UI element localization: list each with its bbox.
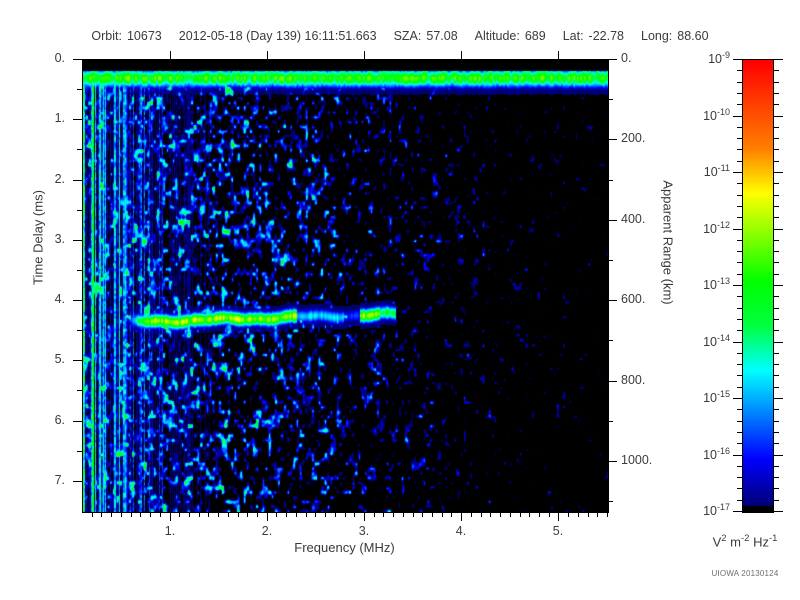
x-major-tick (558, 512, 559, 521)
colorbar-minor-tick (773, 206, 779, 207)
colorbar-minor-tick (773, 70, 779, 71)
header-field-label: Orbit: (91, 29, 122, 43)
y-left-tick-label: 5. (55, 352, 65, 366)
x-minor-tick (549, 512, 550, 517)
y-left-major-tick (73, 240, 82, 241)
header-field-label: Long: (641, 29, 672, 43)
unit-meters: m (730, 534, 741, 549)
colorbar-major-tick (733, 229, 743, 230)
colorbar-tick-label: 10-17 (703, 502, 730, 518)
colorbar-minor-tick (737, 308, 743, 309)
x-minor-tick (286, 512, 287, 517)
x-minor-tick (228, 512, 229, 517)
colorbar-minor-tick (773, 500, 779, 501)
y-left-major-tick (73, 421, 82, 422)
x-minor-tick (539, 512, 540, 517)
colorbar-minor-tick (737, 240, 743, 241)
x-minor-tick (189, 512, 190, 517)
x-minor-tick (451, 512, 452, 517)
y-left-major-tick (73, 180, 82, 181)
colorbar-major-tick (733, 398, 743, 399)
x-minor-tick (403, 512, 404, 517)
x-minor-tick (597, 512, 598, 517)
colorbar-minor-tick (773, 432, 779, 433)
header-field-value: 88.60 (677, 29, 708, 43)
y-right-tick-label: 600. (621, 292, 645, 306)
colorbar-tick-exponent: -11 (718, 163, 730, 173)
colorbar-minor-tick (773, 364, 779, 365)
y-right-tick-label: 800. (621, 373, 645, 387)
x-minor-tick (432, 512, 433, 517)
x-minor-tick (490, 512, 491, 517)
colorbar-minor-tick (773, 93, 779, 94)
colorbar-minor-tick (737, 161, 743, 162)
unit-volts-exponent: 2 (721, 533, 726, 544)
colorbar-minor-tick (737, 70, 743, 71)
colorbar-major-tick (773, 229, 783, 230)
colorbar-minor-tick (737, 82, 743, 83)
colorbar-minor-tick (773, 251, 779, 252)
colorbar-tick-label: 10-12 (703, 220, 730, 236)
x-minor-tick (218, 512, 219, 517)
x-minor-tick (471, 512, 472, 517)
x-tick-label: 1. (140, 524, 200, 538)
colorbar-minor-tick (773, 308, 779, 309)
y-right-tick-label: 400. (621, 212, 645, 226)
x-minor-tick (306, 512, 307, 517)
x-minor-tick (607, 512, 608, 517)
colorbar-tick-exponent: -17 (717, 502, 730, 512)
colorbar-minor-tick (737, 364, 743, 365)
colorbar-minor-tick (773, 319, 779, 320)
x-minor-tick (247, 512, 248, 517)
x-minor-tick (199, 512, 200, 517)
y-left-tick-label: 7. (55, 473, 65, 487)
colorbar-minor-tick (773, 240, 779, 241)
header-field-value: 689 (525, 29, 546, 43)
colorbar-minor-tick (773, 353, 779, 354)
colorbar (742, 59, 774, 513)
colorbar-minor-tick (737, 93, 743, 94)
ionogram-figure: Orbit:106732012-05-18 (Day 139) 16:11:51… (0, 0, 800, 600)
colorbar-minor-tick (737, 466, 743, 467)
y-left-minor-tick (77, 270, 82, 271)
colorbar-minor-tick (773, 330, 779, 331)
header-field-label: SZA: (394, 29, 422, 43)
colorbar-minor-tick (737, 353, 743, 354)
colorbar-minor-tick (773, 183, 779, 184)
y-right-tick-label: 1000. (621, 453, 652, 467)
colorbar-minor-tick (773, 443, 779, 444)
colorbar-minor-tick (773, 296, 779, 297)
y-right-major-tick (608, 59, 617, 60)
y-right-tick-label: 0. (621, 51, 631, 65)
x-minor-tick (588, 512, 589, 517)
colorbar-major-tick (733, 59, 743, 60)
colorbar-minor-tick (737, 500, 743, 501)
colorbar-minor-tick (737, 296, 743, 297)
unit-hertz-exponent: -1 (769, 533, 777, 544)
colorbar-minor-tick (737, 375, 743, 376)
x-minor-tick (325, 512, 326, 517)
y-right-major-tick (608, 461, 617, 462)
colorbar-minor-tick (773, 409, 779, 410)
y-left-tick-label: 1. (55, 111, 65, 125)
y-right-major-tick (608, 381, 617, 382)
colorbar-tick-mantissa: 10 (703, 222, 717, 236)
colorbar-major-tick (733, 285, 743, 286)
x-minor-tick (442, 512, 443, 517)
unit-meters-exponent: -2 (741, 533, 749, 544)
colorbar-tick-mantissa: 10 (703, 109, 717, 123)
unit-volts: V (713, 534, 722, 549)
colorbar-tick-exponent: -16 (717, 446, 730, 456)
colorbar-major-tick (773, 116, 783, 117)
x-major-tick-top (267, 51, 268, 60)
colorbar-minor-tick (737, 488, 743, 489)
x-minor-tick (520, 512, 521, 517)
x-minor-tick (481, 512, 482, 517)
colorbar-minor-tick (773, 421, 779, 422)
colorbar-minor-tick (773, 195, 779, 196)
colorbar-tick-mantissa: 10 (703, 278, 717, 292)
colorbar-minor-tick (737, 432, 743, 433)
colorbar-tick-label: 10-11 (704, 163, 730, 179)
ionogram-plot-area (82, 59, 609, 513)
colorbar-minor-tick (737, 477, 743, 478)
x-minor-tick (179, 512, 180, 517)
y-left-minor-tick (77, 210, 82, 211)
colorbar-minor-tick (737, 104, 743, 105)
header-field-value: 10673 (127, 29, 162, 43)
colorbar-major-tick (733, 116, 743, 117)
colorbar-tick-mantissa: 10 (703, 391, 717, 405)
colorbar-gradient (743, 60, 773, 512)
x-minor-tick (150, 512, 151, 517)
colorbar-tick-mantissa: 10 (703, 448, 717, 462)
colorbar-minor-tick (773, 466, 779, 467)
y-left-minor-tick (77, 89, 82, 90)
colorbar-tick-mantissa: 10 (708, 52, 722, 66)
colorbar-major-tick (733, 342, 743, 343)
x-tick-label: 5. (528, 524, 588, 538)
colorbar-minor-tick (773, 127, 779, 128)
x-minor-tick (131, 512, 132, 517)
colorbar-minor-tick (773, 274, 779, 275)
colorbar-minor-tick (737, 274, 743, 275)
x-major-tick (461, 512, 462, 521)
x-major-tick-top (558, 51, 559, 60)
x-minor-tick (354, 512, 355, 517)
x-minor-tick (422, 512, 423, 517)
x-minor-tick (140, 512, 141, 517)
x-minor-tick (111, 512, 112, 517)
credit-label: UIOWA 20130124 (690, 569, 800, 578)
x-major-tick-top (170, 51, 171, 60)
colorbar-major-tick (773, 455, 783, 456)
colorbar-tick-label: 10-15 (703, 389, 730, 405)
colorbar-minor-tick (737, 251, 743, 252)
x-tick-label: 2. (237, 524, 297, 538)
colorbar-major-tick (773, 398, 783, 399)
colorbar-tick-label: 10-16 (703, 446, 730, 462)
colorbar-minor-tick (737, 149, 743, 150)
x-major-tick (364, 512, 365, 521)
y-left-tick-label: 2. (55, 172, 65, 186)
y-right-minor-tick (608, 99, 613, 100)
colorbar-minor-tick (737, 330, 743, 331)
colorbar-tick-exponent: -10 (717, 107, 730, 117)
colorbar-major-tick (733, 172, 743, 173)
colorbar-tick-label: 10-14 (703, 333, 730, 349)
colorbar-tick-label: 10-13 (703, 276, 730, 292)
x-minor-tick (296, 512, 297, 517)
x-minor-tick (101, 512, 102, 517)
x-minor-tick (257, 512, 258, 517)
colorbar-minor-tick (773, 387, 779, 388)
colorbar-minor-tick (737, 183, 743, 184)
x-minor-tick (160, 512, 161, 517)
x-minor-tick (276, 512, 277, 517)
x-major-tick (267, 512, 268, 521)
y-left-minor-tick (77, 451, 82, 452)
y-left-tick-label: 4. (55, 292, 65, 306)
colorbar-minor-tick (737, 127, 743, 128)
unit-hertz: Hz (753, 534, 769, 549)
x-major-tick (170, 512, 171, 521)
colorbar-minor-tick (737, 443, 743, 444)
colorbar-major-tick (733, 511, 743, 512)
x-major-tick-top (461, 51, 462, 60)
colorbar-minor-tick (737, 319, 743, 320)
y-left-major-tick (73, 360, 82, 361)
x-minor-tick (529, 512, 530, 517)
colorbar-minor-tick (737, 421, 743, 422)
x-minor-tick (121, 512, 122, 517)
colorbar-tick-exponent: -14 (717, 333, 730, 343)
colorbar-tick-exponent: -12 (717, 220, 730, 230)
y-right-minor-tick (608, 180, 613, 181)
colorbar-minor-tick (737, 262, 743, 263)
header-metadata: Orbit:106732012-05-18 (Day 139) 16:11:51… (0, 29, 800, 43)
colorbar-minor-tick (737, 195, 743, 196)
colorbar-minor-tick (737, 206, 743, 207)
colorbar-major-tick (773, 342, 783, 343)
x-minor-tick (578, 512, 579, 517)
header-field-1: 2012-05-18 (Day 139) 16:11:51.663 (179, 29, 377, 43)
colorbar-minor-tick (773, 149, 779, 150)
y-right-tick-label: 200. (621, 131, 645, 145)
x-minor-tick (315, 512, 316, 517)
colorbar-minor-tick (737, 387, 743, 388)
x-minor-tick (92, 512, 93, 517)
y-left-major-tick (73, 481, 82, 482)
colorbar-minor-tick (773, 161, 779, 162)
colorbar-tick-exponent: -13 (717, 276, 730, 286)
y-right-major-tick (608, 220, 617, 221)
y-right-minor-tick (608, 421, 613, 422)
header-field-label: Altitude: (475, 29, 520, 43)
colorbar-tick-exponent: -9 (722, 50, 730, 60)
colorbar-minor-tick (737, 217, 743, 218)
x-tick-label: 4. (431, 524, 491, 538)
y-right-minor-tick (608, 260, 613, 261)
colorbar-tick-label: 10-10 (703, 107, 730, 123)
y-left-minor-tick (77, 330, 82, 331)
x-tick-label: 3. (334, 524, 394, 538)
header-field-value: -22.78 (589, 29, 624, 43)
y-axis-left-title: Time Delay (ms) (31, 138, 46, 338)
x-minor-tick (208, 512, 209, 517)
header-field-3: Altitude:689 (475, 29, 546, 43)
colorbar-minor-tick (773, 138, 779, 139)
y-right-major-tick (608, 300, 617, 301)
x-major-tick-top (364, 51, 365, 60)
y-right-minor-tick (608, 340, 613, 341)
y-left-minor-tick (77, 149, 82, 150)
colorbar-tick-mantissa: 10 (704, 165, 718, 179)
x-minor-tick (383, 512, 384, 517)
colorbar-major-tick (773, 511, 783, 512)
x-minor-tick (510, 512, 511, 517)
x-minor-tick (335, 512, 336, 517)
colorbar-major-tick (773, 172, 783, 173)
y-left-major-tick (73, 119, 82, 120)
y-left-major-tick (73, 300, 82, 301)
colorbar-major-tick (773, 285, 783, 286)
y-left-major-tick (73, 59, 82, 60)
y-left-tick-label: 6. (55, 413, 65, 427)
colorbar-minor-tick (773, 375, 779, 376)
header-field-value: 2012-05-18 (Day 139) 16:11:51.663 (179, 29, 377, 43)
x-minor-tick (393, 512, 394, 517)
header-field-4: Lat:-22.78 (563, 29, 624, 43)
y-right-major-tick (608, 139, 617, 140)
x-minor-tick (413, 512, 414, 517)
colorbar-minor-tick (773, 262, 779, 263)
x-minor-tick (374, 512, 375, 517)
y-left-tick-label: 0. (55, 51, 65, 65)
x-minor-tick (500, 512, 501, 517)
colorbar-minor-tick (773, 217, 779, 218)
colorbar-minor-tick (737, 138, 743, 139)
colorbar-tick-label: 10-9 (708, 50, 730, 66)
header-field-value: 57.08 (426, 29, 457, 43)
y-left-tick-label: 3. (55, 232, 65, 246)
x-minor-tick (568, 512, 569, 517)
colorbar-tick-exponent: -15 (717, 389, 730, 399)
colorbar-tick-mantissa: 10 (703, 504, 717, 518)
x-axis-title: Frequency (MHz) (82, 540, 607, 555)
colorbar-minor-tick (773, 82, 779, 83)
x-minor-tick (238, 512, 239, 517)
header-field-0: Orbit:10673 (91, 29, 161, 43)
colorbar-minor-tick (737, 409, 743, 410)
colorbar-minor-tick (773, 477, 779, 478)
y-left-minor-tick (77, 390, 82, 391)
colorbar-units-label: V2 m-2 Hz-1 (690, 533, 800, 549)
colorbar-major-tick (773, 59, 783, 60)
y-right-minor-tick (608, 501, 613, 502)
ionogram-heatmap (83, 60, 608, 512)
colorbar-minor-tick (773, 104, 779, 105)
header-field-5: Long:88.60 (641, 29, 709, 43)
header-field-2: SZA:57.08 (394, 29, 458, 43)
y-axis-right-title: Apparent Range (km) (661, 143, 676, 343)
header-field-label: Lat: (563, 29, 584, 43)
colorbar-major-tick (733, 455, 743, 456)
colorbar-tick-mantissa: 10 (703, 335, 717, 349)
colorbar-minor-tick (773, 488, 779, 489)
x-minor-tick (345, 512, 346, 517)
